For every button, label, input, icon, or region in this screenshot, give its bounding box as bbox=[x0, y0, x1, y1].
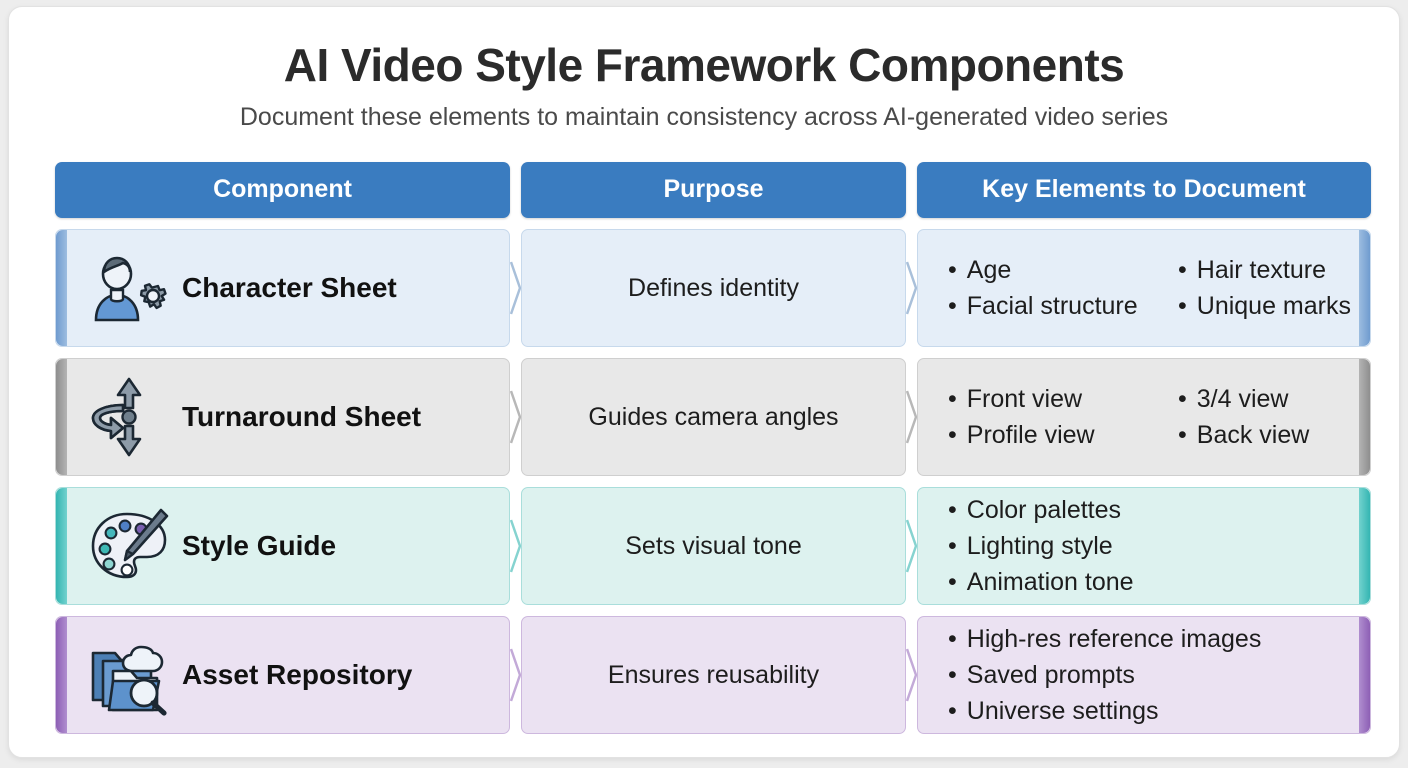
connector-chevron-icon bbox=[510, 648, 521, 702]
page-subtitle: Document these elements to maintain cons… bbox=[9, 103, 1399, 132]
person-gear-icon bbox=[86, 245, 172, 331]
bullet-item: Age bbox=[948, 256, 1178, 285]
column-header-purpose: Purpose bbox=[521, 162, 906, 218]
page-title: AI Video Style Framework Components bbox=[9, 41, 1399, 89]
component-name: Turnaround Sheet bbox=[182, 401, 421, 433]
bullet-item: Profile view bbox=[948, 421, 1178, 450]
purpose-text: Defines identity bbox=[628, 274, 799, 303]
row-accent-bar bbox=[1359, 488, 1370, 604]
table-header-row: Component Purpose Key Elements to Docume… bbox=[55, 162, 1371, 218]
rotate-arrows-icon bbox=[86, 374, 172, 460]
bullet-item: Back view bbox=[1178, 421, 1309, 450]
bullet-column-left: Age Facial structure bbox=[948, 256, 1178, 321]
component-name: Asset Repository bbox=[182, 659, 412, 691]
connector-chevron-icon bbox=[906, 648, 917, 702]
bullet-item: High-res reference images bbox=[948, 625, 1370, 654]
table-row: Turnaround Sheet Guides camera angles Fr… bbox=[55, 358, 1371, 476]
palette-brush-icon bbox=[86, 503, 172, 589]
key-elements-cell: Front view Profile view 3/4 view Back vi… bbox=[917, 358, 1371, 476]
row-accent-bar bbox=[1359, 359, 1370, 475]
table-row: Asset Repository Ensures reusability Hig… bbox=[55, 616, 1371, 734]
row-accent-bar bbox=[56, 230, 67, 346]
key-elements-cell: Age Facial structure Hair texture Unique… bbox=[917, 229, 1371, 347]
bullet-item: Unique marks bbox=[1178, 292, 1351, 321]
connector-chevron-icon bbox=[510, 519, 521, 573]
component-cell: Asset Repository bbox=[55, 616, 510, 734]
row-accent-bar bbox=[1359, 617, 1370, 733]
connector-chevron-icon bbox=[906, 261, 917, 315]
component-cell: Turnaround Sheet bbox=[55, 358, 510, 476]
table-row: Style Guide Sets visual tone Color palet… bbox=[55, 487, 1371, 605]
purpose-cell: Sets visual tone bbox=[521, 487, 906, 605]
bullet-item: 3/4 view bbox=[1178, 385, 1309, 414]
bullet-item: Facial structure bbox=[948, 292, 1178, 321]
bullet-item: Lighting style bbox=[948, 532, 1370, 561]
row-accent-bar bbox=[56, 359, 67, 475]
purpose-text: Guides camera angles bbox=[588, 403, 838, 432]
purpose-text: Ensures reusability bbox=[608, 661, 819, 690]
bullet-column-left: High-res reference images Saved prompts … bbox=[948, 625, 1370, 726]
row-accent-bar bbox=[56, 617, 67, 733]
purpose-cell: Defines identity bbox=[521, 229, 906, 347]
column-header-component: Component bbox=[55, 162, 510, 218]
component-cell: Character Sheet bbox=[55, 229, 510, 347]
purpose-text: Sets visual tone bbox=[625, 532, 802, 561]
connector-chevron-icon bbox=[510, 261, 521, 315]
bullet-item: Color palettes bbox=[948, 496, 1370, 525]
component-cell: Style Guide bbox=[55, 487, 510, 605]
folder-cloud-search-icon bbox=[86, 632, 172, 718]
key-elements-cell: High-res reference images Saved prompts … bbox=[917, 616, 1371, 734]
bullet-item: Animation tone bbox=[948, 568, 1370, 597]
bullet-column-right: 3/4 view Back view bbox=[1178, 385, 1309, 450]
connector-chevron-icon bbox=[510, 390, 521, 444]
bullet-column-left: Front view Profile view bbox=[948, 385, 1178, 450]
bullet-item: Universe settings bbox=[948, 697, 1370, 726]
bullet-column-left: Color palettes Lighting style Animation … bbox=[948, 496, 1370, 597]
bullet-column-right: Hair texture Unique marks bbox=[1178, 256, 1351, 321]
framework-table: Component Purpose Key Elements to Docume… bbox=[55, 162, 1371, 734]
row-accent-bar bbox=[1359, 230, 1370, 346]
column-header-key-elements: Key Elements to Document bbox=[917, 162, 1371, 218]
key-elements-cell: Color palettes Lighting style Animation … bbox=[917, 487, 1371, 605]
bullet-item: Hair texture bbox=[1178, 256, 1351, 285]
connector-chevron-icon bbox=[906, 390, 917, 444]
component-name: Style Guide bbox=[182, 530, 336, 562]
diagram-card: AI Video Style Framework Components Docu… bbox=[8, 6, 1400, 758]
purpose-cell: Ensures reusability bbox=[521, 616, 906, 734]
bullet-item: Saved prompts bbox=[948, 661, 1370, 690]
purpose-cell: Guides camera angles bbox=[521, 358, 906, 476]
connector-chevron-icon bbox=[906, 519, 917, 573]
bullet-item: Front view bbox=[948, 385, 1178, 414]
component-name: Character Sheet bbox=[182, 272, 397, 304]
row-accent-bar bbox=[56, 488, 67, 604]
table-row: Character Sheet Defines identity Age Fac… bbox=[55, 229, 1371, 347]
